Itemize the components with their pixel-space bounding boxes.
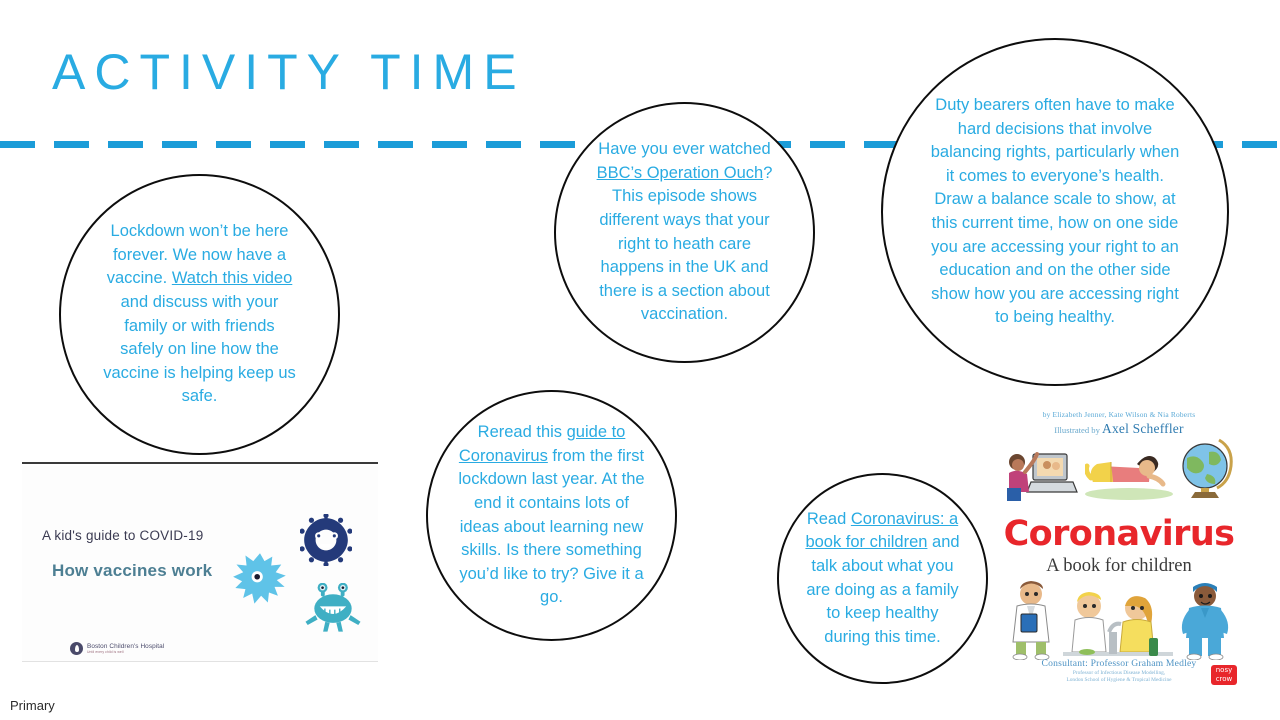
- coronavirus-book-cover[interactable]: by Elizabeth Jenner, Kate Wilson & Nia R…: [997, 404, 1241, 689]
- book-credit-line-2: Professor of Infectious Disease Modellin…: [997, 670, 1241, 676]
- doctor-illustration: [1005, 580, 1061, 660]
- kids-guide-covid-video-thumbnail[interactable]: A kid's guide to COVID-19 How vaccines w…: [22, 462, 378, 662]
- text-run-2: from the first lockdown last year. At th…: [458, 447, 644, 607]
- activity-circle-lockdown-vaccine[interactable]: Lockdown won’t be here forever. We now h…: [59, 174, 340, 455]
- hospital-logo-mark: [70, 642, 83, 655]
- activity-circle-operation-ouch[interactable]: Have you ever watched BBC’s Operation Ou…: [554, 102, 815, 363]
- activity-circle-lockdown-vaccine-text: Lockdown won’t be here forever. We now h…: [102, 220, 298, 409]
- publisher-logo: nosy crow: [1211, 665, 1237, 685]
- activity-circle-book-for-children[interactable]: Read Coronavirus: a book for children an…: [777, 473, 988, 684]
- activity-circle-book-for-children-text: Read Coronavirus: a book for children an…: [803, 508, 963, 650]
- book-illustrator-prefix: Illustrated by: [1054, 425, 1102, 435]
- text-run-0: Read: [807, 510, 851, 528]
- text-run-2: and discuss with your family or with fri…: [103, 293, 296, 405]
- hospital-logo-line2: Until every child is well: [87, 650, 164, 654]
- publisher-line2: crow: [1211, 675, 1237, 684]
- virus-dark-icon: [300, 514, 352, 566]
- video-thumbnail-line2: How vaccines work: [52, 561, 212, 581]
- text-run-2: ? This episode shows different ways that…: [599, 164, 772, 324]
- video-thumbnail-line1: A kid's guide to COVID-19: [42, 528, 203, 543]
- virus-monster-icon: [300, 583, 366, 633]
- activity-circle-guide-to-coronavirus-text: Reread this guide to Coronavirus from th…: [457, 421, 647, 610]
- nurse-illustration: [1177, 580, 1233, 660]
- video-thumbnail-canvas: A kid's guide to COVID-19 How vaccines w…: [22, 466, 378, 662]
- book-title: Coronavirus: [997, 514, 1241, 554]
- activity-circle-guide-to-coronavirus[interactable]: Reread this guide to Coronavirus from th…: [426, 390, 677, 641]
- footer-label: Primary: [10, 698, 55, 713]
- activity-circle-duty-bearers[interactable]: Duty bearers often have to make hard dec…: [881, 38, 1229, 386]
- book-consultant: Consultant: Professor Graham Medley: [997, 658, 1241, 669]
- activity-circle-duty-bearers-text: Duty bearers often have to make hard dec…: [927, 94, 1183, 330]
- boston-childrens-hospital-logo: Boston Children's Hospital Until every c…: [70, 642, 164, 655]
- book-subtitle: A book for children: [997, 556, 1241, 577]
- text-run-0: Duty bearers often have to make hard dec…: [931, 96, 1180, 326]
- hospital-logo-line1: Boston Children's Hospital: [87, 643, 164, 650]
- text-run-0: Have you ever watched: [598, 140, 770, 158]
- publisher-line1: nosy: [1211, 666, 1237, 675]
- child-lying-down-illustration: [1085, 448, 1173, 500]
- book-illustrator-name: Axel Scheffler: [1102, 421, 1184, 436]
- hyperlink-1[interactable]: Watch this video: [172, 269, 292, 287]
- children-washing-hands-illustration: [1063, 590, 1173, 662]
- hyperlink-1[interactable]: BBC’s Operation Ouch: [597, 164, 764, 182]
- virus-blob-icon: [232, 551, 288, 607]
- globe-illustration: [1173, 434, 1235, 500]
- page-title: ACTIVITY TIME: [52, 45, 526, 100]
- activity-circle-operation-ouch-text: Have you ever watched BBC’s Operation Ou…: [589, 138, 781, 327]
- book-authors: by Elizabeth Jenner, Kate Wilson & Nia R…: [997, 410, 1241, 419]
- book-credit-line-3: London School of Hygiene & Tropical Medi…: [997, 677, 1241, 683]
- text-run-0: Reread this: [478, 423, 567, 441]
- child-at-computer-illustration: [1003, 440, 1081, 502]
